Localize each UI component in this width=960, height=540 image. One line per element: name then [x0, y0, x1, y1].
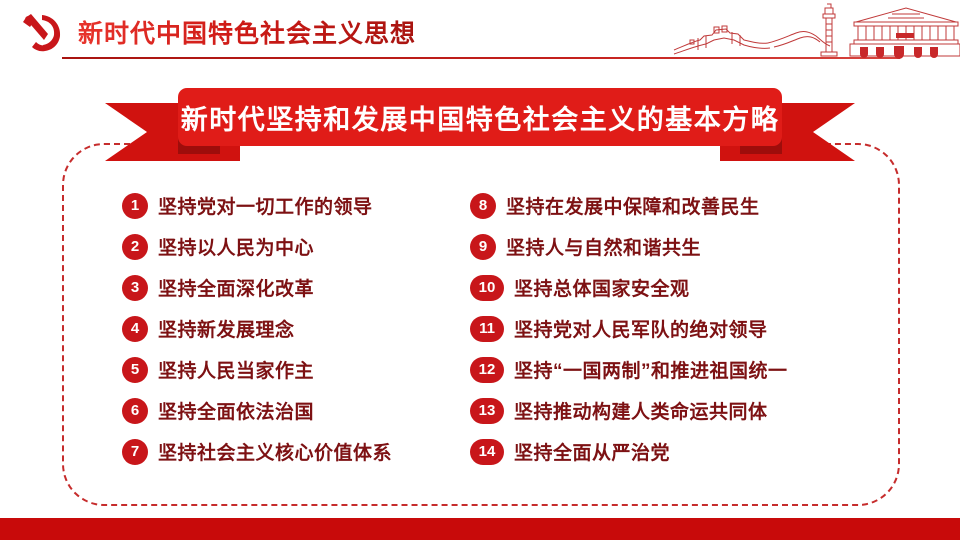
- item-number-badge: 10: [470, 275, 504, 301]
- item-number-badge: 8: [470, 193, 496, 219]
- list-item[interactable]: 8 坚持在发展中保障和改善民生: [470, 186, 900, 225]
- banner-ribbon: 新时代坚持和发展中国特色社会主义的基本方略: [0, 88, 960, 166]
- page-header: 新时代中国特色社会主义思想: [0, 0, 960, 66]
- item-number-badge: 13: [470, 398, 504, 424]
- tiananmen-great-wall-monument-lineart-icon: [670, 0, 960, 60]
- list-item[interactable]: 14 坚持全面从严治党: [470, 432, 900, 471]
- list-item[interactable]: 4 坚持新发展理念: [122, 309, 434, 348]
- list-item[interactable]: 13 坚持推动构建人类命运共同体: [470, 391, 900, 430]
- item-label: 坚持推动构建人类命运共同体: [514, 397, 768, 424]
- item-number-badge: 3: [122, 275, 148, 301]
- item-label: 坚持全面深化改革: [158, 274, 314, 301]
- cpc-hammer-sickle-emblem-icon: [18, 11, 64, 55]
- page-title: 新时代中国特色社会主义思想: [78, 14, 416, 50]
- item-label: 坚持社会主义核心价值体系: [158, 438, 392, 465]
- list-item[interactable]: 1 坚持党对一切工作的领导: [122, 186, 434, 225]
- item-label: 坚持以人民为中心: [158, 233, 314, 260]
- banner-plate: 新时代坚持和发展中国特色社会主义的基本方略: [178, 88, 782, 146]
- item-number-badge: 6: [122, 398, 148, 424]
- item-number-badge: 2: [122, 234, 148, 260]
- item-label: 坚持党对一切工作的领导: [158, 192, 373, 219]
- item-number-badge: 1: [122, 193, 148, 219]
- principles-column-right: 8 坚持在发展中保障和改善民生 9 坚持人与自然和谐共生 10 坚持总体国家安全…: [434, 186, 900, 486]
- list-item[interactable]: 2 坚持以人民为中心: [122, 227, 434, 266]
- item-label: 坚持总体国家安全观: [514, 274, 690, 301]
- item-number-badge: 7: [122, 439, 148, 465]
- item-number-badge: 4: [122, 316, 148, 342]
- list-item[interactable]: 3 坚持全面深化改革: [122, 268, 434, 307]
- list-item[interactable]: 11 坚持党对人民军队的绝对领导: [470, 309, 900, 348]
- item-label: 坚持“一国两制”和推进祖国统一: [514, 356, 788, 383]
- item-number-badge: 11: [470, 316, 504, 342]
- list-item[interactable]: 5 坚持人民当家作主: [122, 350, 434, 389]
- principles-column-left: 1 坚持党对一切工作的领导 2 坚持以人民为中心 3 坚持全面深化改革 4 坚持…: [62, 186, 434, 486]
- item-number-badge: 5: [122, 357, 148, 383]
- item-label: 坚持人与自然和谐共生: [506, 233, 701, 260]
- item-number-badge: 9: [470, 234, 496, 260]
- principles-list: 1 坚持党对一切工作的领导 2 坚持以人民为中心 3 坚持全面深化改革 4 坚持…: [62, 186, 900, 486]
- item-label: 坚持在发展中保障和改善民生: [506, 192, 760, 219]
- item-number-badge: 12: [470, 357, 504, 383]
- item-number-badge: 14: [470, 439, 504, 465]
- list-item[interactable]: 12 坚持“一国两制”和推进祖国统一: [470, 350, 900, 389]
- footer-bar: [0, 518, 960, 540]
- list-item[interactable]: 10 坚持总体国家安全观: [470, 268, 900, 307]
- list-item[interactable]: 6 坚持全面依法治国: [122, 391, 434, 430]
- item-label: 坚持全面依法治国: [158, 397, 314, 424]
- item-label: 坚持新发展理念: [158, 315, 295, 342]
- list-item[interactable]: 9 坚持人与自然和谐共生: [470, 227, 900, 266]
- list-item[interactable]: 7 坚持社会主义核心价值体系: [122, 432, 434, 471]
- item-label: 坚持全面从严治党: [514, 438, 670, 465]
- item-label: 坚持党对人民军队的绝对领导: [514, 315, 768, 342]
- item-label: 坚持人民当家作主: [158, 356, 314, 383]
- banner-title: 新时代坚持和发展中国特色社会主义的基本方略: [181, 98, 780, 137]
